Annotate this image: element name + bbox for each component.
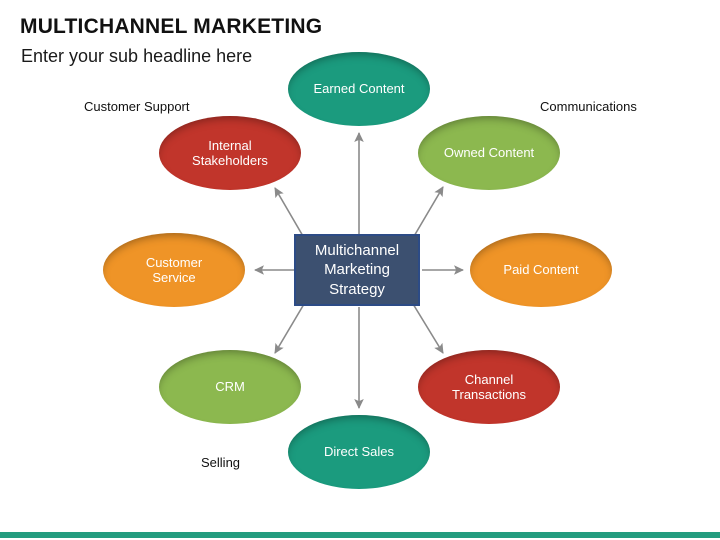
center-strategy-box[interactable]: Multichannel Marketing Strategy <box>294 234 420 306</box>
node-label: CRM <box>205 379 255 394</box>
node-label: Internal Stakeholders <box>182 138 278 169</box>
page-subtitle: Enter your sub headline here <box>21 46 252 67</box>
caption-communications: Communications <box>540 99 637 114</box>
node-crm[interactable]: CRM <box>159 350 301 424</box>
node-channel-transactions[interactable]: Channel Transactions <box>418 350 560 424</box>
caption-customer-support: Customer Support <box>84 99 190 114</box>
slide-canvas: MULTICHANNEL MARKETING Enter your sub he… <box>0 0 720 540</box>
accent-bar <box>0 532 720 538</box>
node-label: Earned Content <box>303 81 414 96</box>
node-direct-sales[interactable]: Direct Sales <box>288 415 430 489</box>
node-label: Paid Content <box>493 262 588 277</box>
node-label: Direct Sales <box>314 444 404 459</box>
page-title: MULTICHANNEL MARKETING <box>20 15 322 39</box>
arrow-to-channel-transactions <box>410 299 443 353</box>
center-box-label: Multichannel Marketing Strategy <box>315 241 399 299</box>
node-label: Channel Transactions <box>442 372 536 403</box>
node-label: Customer Service <box>136 255 212 286</box>
node-label: Owned Content <box>434 145 544 160</box>
node-paid-content[interactable]: Paid Content <box>470 233 612 307</box>
node-owned-content[interactable]: Owned Content <box>418 116 560 190</box>
node-internal-stakeholders[interactable]: Internal Stakeholders <box>159 116 301 190</box>
caption-selling: Selling <box>201 455 240 470</box>
arrow-to-crm <box>275 299 307 353</box>
node-customer-service[interactable]: Customer Service <box>103 233 245 307</box>
node-earned-content[interactable]: Earned Content <box>288 52 430 126</box>
